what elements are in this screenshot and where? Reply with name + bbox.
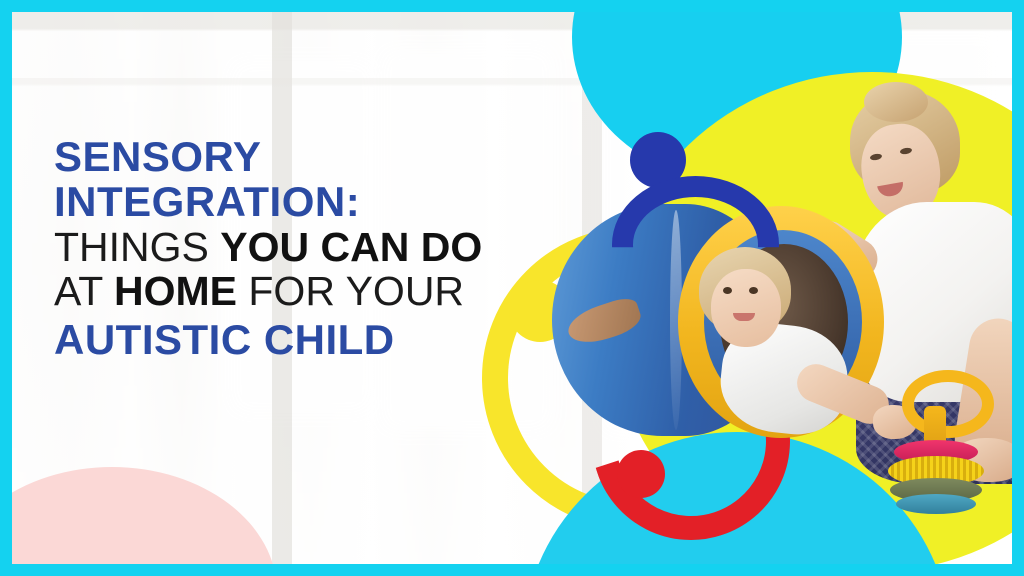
woman-hair-bun xyxy=(864,82,928,122)
headline-line-4-plain-b: FOR YOUR xyxy=(237,268,464,314)
headline-line-4-plain-a: AT xyxy=(54,268,114,314)
child-eye-right xyxy=(749,287,758,294)
headline-block: SENSORY INTEGRATION: THINGS YOU CAN DO A… xyxy=(54,134,524,363)
toy-top-ring xyxy=(902,370,994,438)
headline-line-3-bold: YOU CAN DO xyxy=(220,224,482,270)
child-face xyxy=(711,269,781,347)
child-figure xyxy=(677,247,877,487)
toy-disc-blue xyxy=(896,494,976,514)
banner-graphic: SENSORY INTEGRATION: THINGS YOU CAN DO A… xyxy=(0,0,1024,576)
headline-line-1: SENSORY xyxy=(54,134,524,179)
headline-line-2: INTEGRATION: xyxy=(54,179,524,224)
headline-line-3: THINGS YOU CAN DO xyxy=(54,225,524,269)
headline-line-4-bold: HOME xyxy=(114,268,237,314)
headline-line-4: AT HOME FOR YOUR xyxy=(54,269,524,313)
banner-canvas: SENSORY INTEGRATION: THINGS YOU CAN DO A… xyxy=(12,12,1012,564)
person-pictogram-icon xyxy=(612,132,737,222)
headline-line-3-plain: THINGS xyxy=(54,224,220,270)
headline-line-5: AUTISTIC CHILD xyxy=(54,317,524,362)
child-eye-left xyxy=(723,287,732,294)
stacking-ring-toy xyxy=(880,370,990,530)
